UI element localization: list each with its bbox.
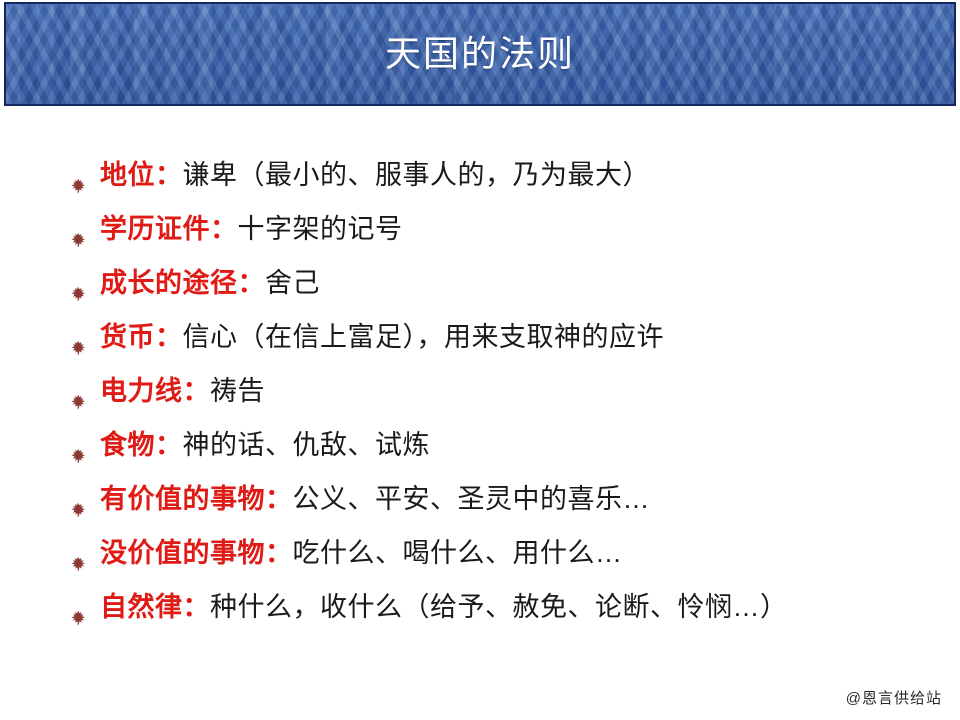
maple-leaf-bullet-icon xyxy=(70,502,86,518)
bullet-list: 地位：谦卑（最小的、服事人的，乃为最大） 学历证件：十字架的记号 xyxy=(0,158,960,644)
slide-canvas: 天国的法则 地位：谦卑（最小的、服事人的，乃为最大） 学 xyxy=(0,0,960,720)
bullet-text: 有价值的事物：公义、平安、圣灵中的喜乐… xyxy=(100,482,650,516)
bullet-content: 吃什么、喝什么、用什么… xyxy=(293,538,623,568)
bullet-label: 自然律： xyxy=(100,592,210,622)
maple-leaf-bullet-icon xyxy=(70,556,86,572)
bullet-label: 地位： xyxy=(100,160,183,190)
bullet-row: 地位：谦卑（最小的、服事人的，乃为最大） xyxy=(0,158,960,212)
bullet-content: 祷告 xyxy=(210,376,265,406)
maple-leaf-bullet-icon xyxy=(70,178,86,194)
maple-leaf-bullet-icon xyxy=(70,286,86,302)
bullet-text: 学历证件：十字架的记号 xyxy=(100,212,403,246)
bullet-row: 货币：信心（在信上富足），用来支取神的应许 xyxy=(0,320,960,374)
bullet-content: 信心（在信上富足），用来支取神的应许 xyxy=(183,322,665,352)
bullet-row: 学历证件：十字架的记号 xyxy=(0,212,960,266)
bullet-content: 十字架的记号 xyxy=(238,214,403,244)
bullet-content: 种什么，收什么（给予、赦免、论断、怜悯…） xyxy=(210,592,788,622)
bullet-label: 货币： xyxy=(100,322,183,352)
maple-leaf-bullet-icon xyxy=(70,232,86,248)
bullet-text: 成长的途径：舍己 xyxy=(100,266,320,300)
bullet-text: 自然律：种什么，收什么（给予、赦免、论断、怜悯…） xyxy=(100,590,788,624)
bullet-text: 没价值的事物：吃什么、喝什么、用什么… xyxy=(100,536,623,570)
bullet-text: 电力线：祷告 xyxy=(100,374,265,408)
bullet-text: 货币：信心（在信上富足），用来支取神的应许 xyxy=(100,320,664,354)
bullet-label: 食物： xyxy=(100,430,183,460)
maple-leaf-bullet-icon xyxy=(70,394,86,410)
slide-title: 天国的法则 xyxy=(385,36,575,72)
bullet-label: 学历证件： xyxy=(100,214,238,244)
maple-leaf-bullet-icon xyxy=(70,610,86,626)
bullet-row: 没价值的事物：吃什么、喝什么、用什么… xyxy=(0,536,960,590)
bullet-content: 神的话、仇敌、试炼 xyxy=(183,430,431,460)
bullet-label: 成长的途径： xyxy=(100,268,265,298)
bullet-label: 有价值的事物： xyxy=(100,484,293,514)
watermark: @恩言供给站 xyxy=(846,687,942,708)
bullet-content: 谦卑（最小的、服事人的，乃为最大） xyxy=(183,160,651,190)
bullet-label: 电力线： xyxy=(100,376,210,406)
title-banner: 天国的法则 xyxy=(4,2,956,106)
bullet-row: 电力线：祷告 xyxy=(0,374,960,428)
maple-leaf-bullet-icon xyxy=(70,340,86,356)
bullet-content: 舍己 xyxy=(265,268,320,298)
bullet-row: 有价值的事物：公义、平安、圣灵中的喜乐… xyxy=(0,482,960,536)
maple-leaf-bullet-icon xyxy=(70,448,86,464)
bullet-content: 公义、平安、圣灵中的喜乐… xyxy=(293,484,651,514)
bullet-row: 食物：神的话、仇敌、试炼 xyxy=(0,428,960,482)
bullet-label: 没价值的事物： xyxy=(100,538,293,568)
bullet-text: 地位：谦卑（最小的、服事人的，乃为最大） xyxy=(100,158,650,192)
bullet-text: 食物：神的话、仇敌、试炼 xyxy=(100,428,430,462)
bullet-row: 成长的途径：舍己 xyxy=(0,266,960,320)
bullet-row: 自然律：种什么，收什么（给予、赦免、论断、怜悯…） xyxy=(0,590,960,644)
